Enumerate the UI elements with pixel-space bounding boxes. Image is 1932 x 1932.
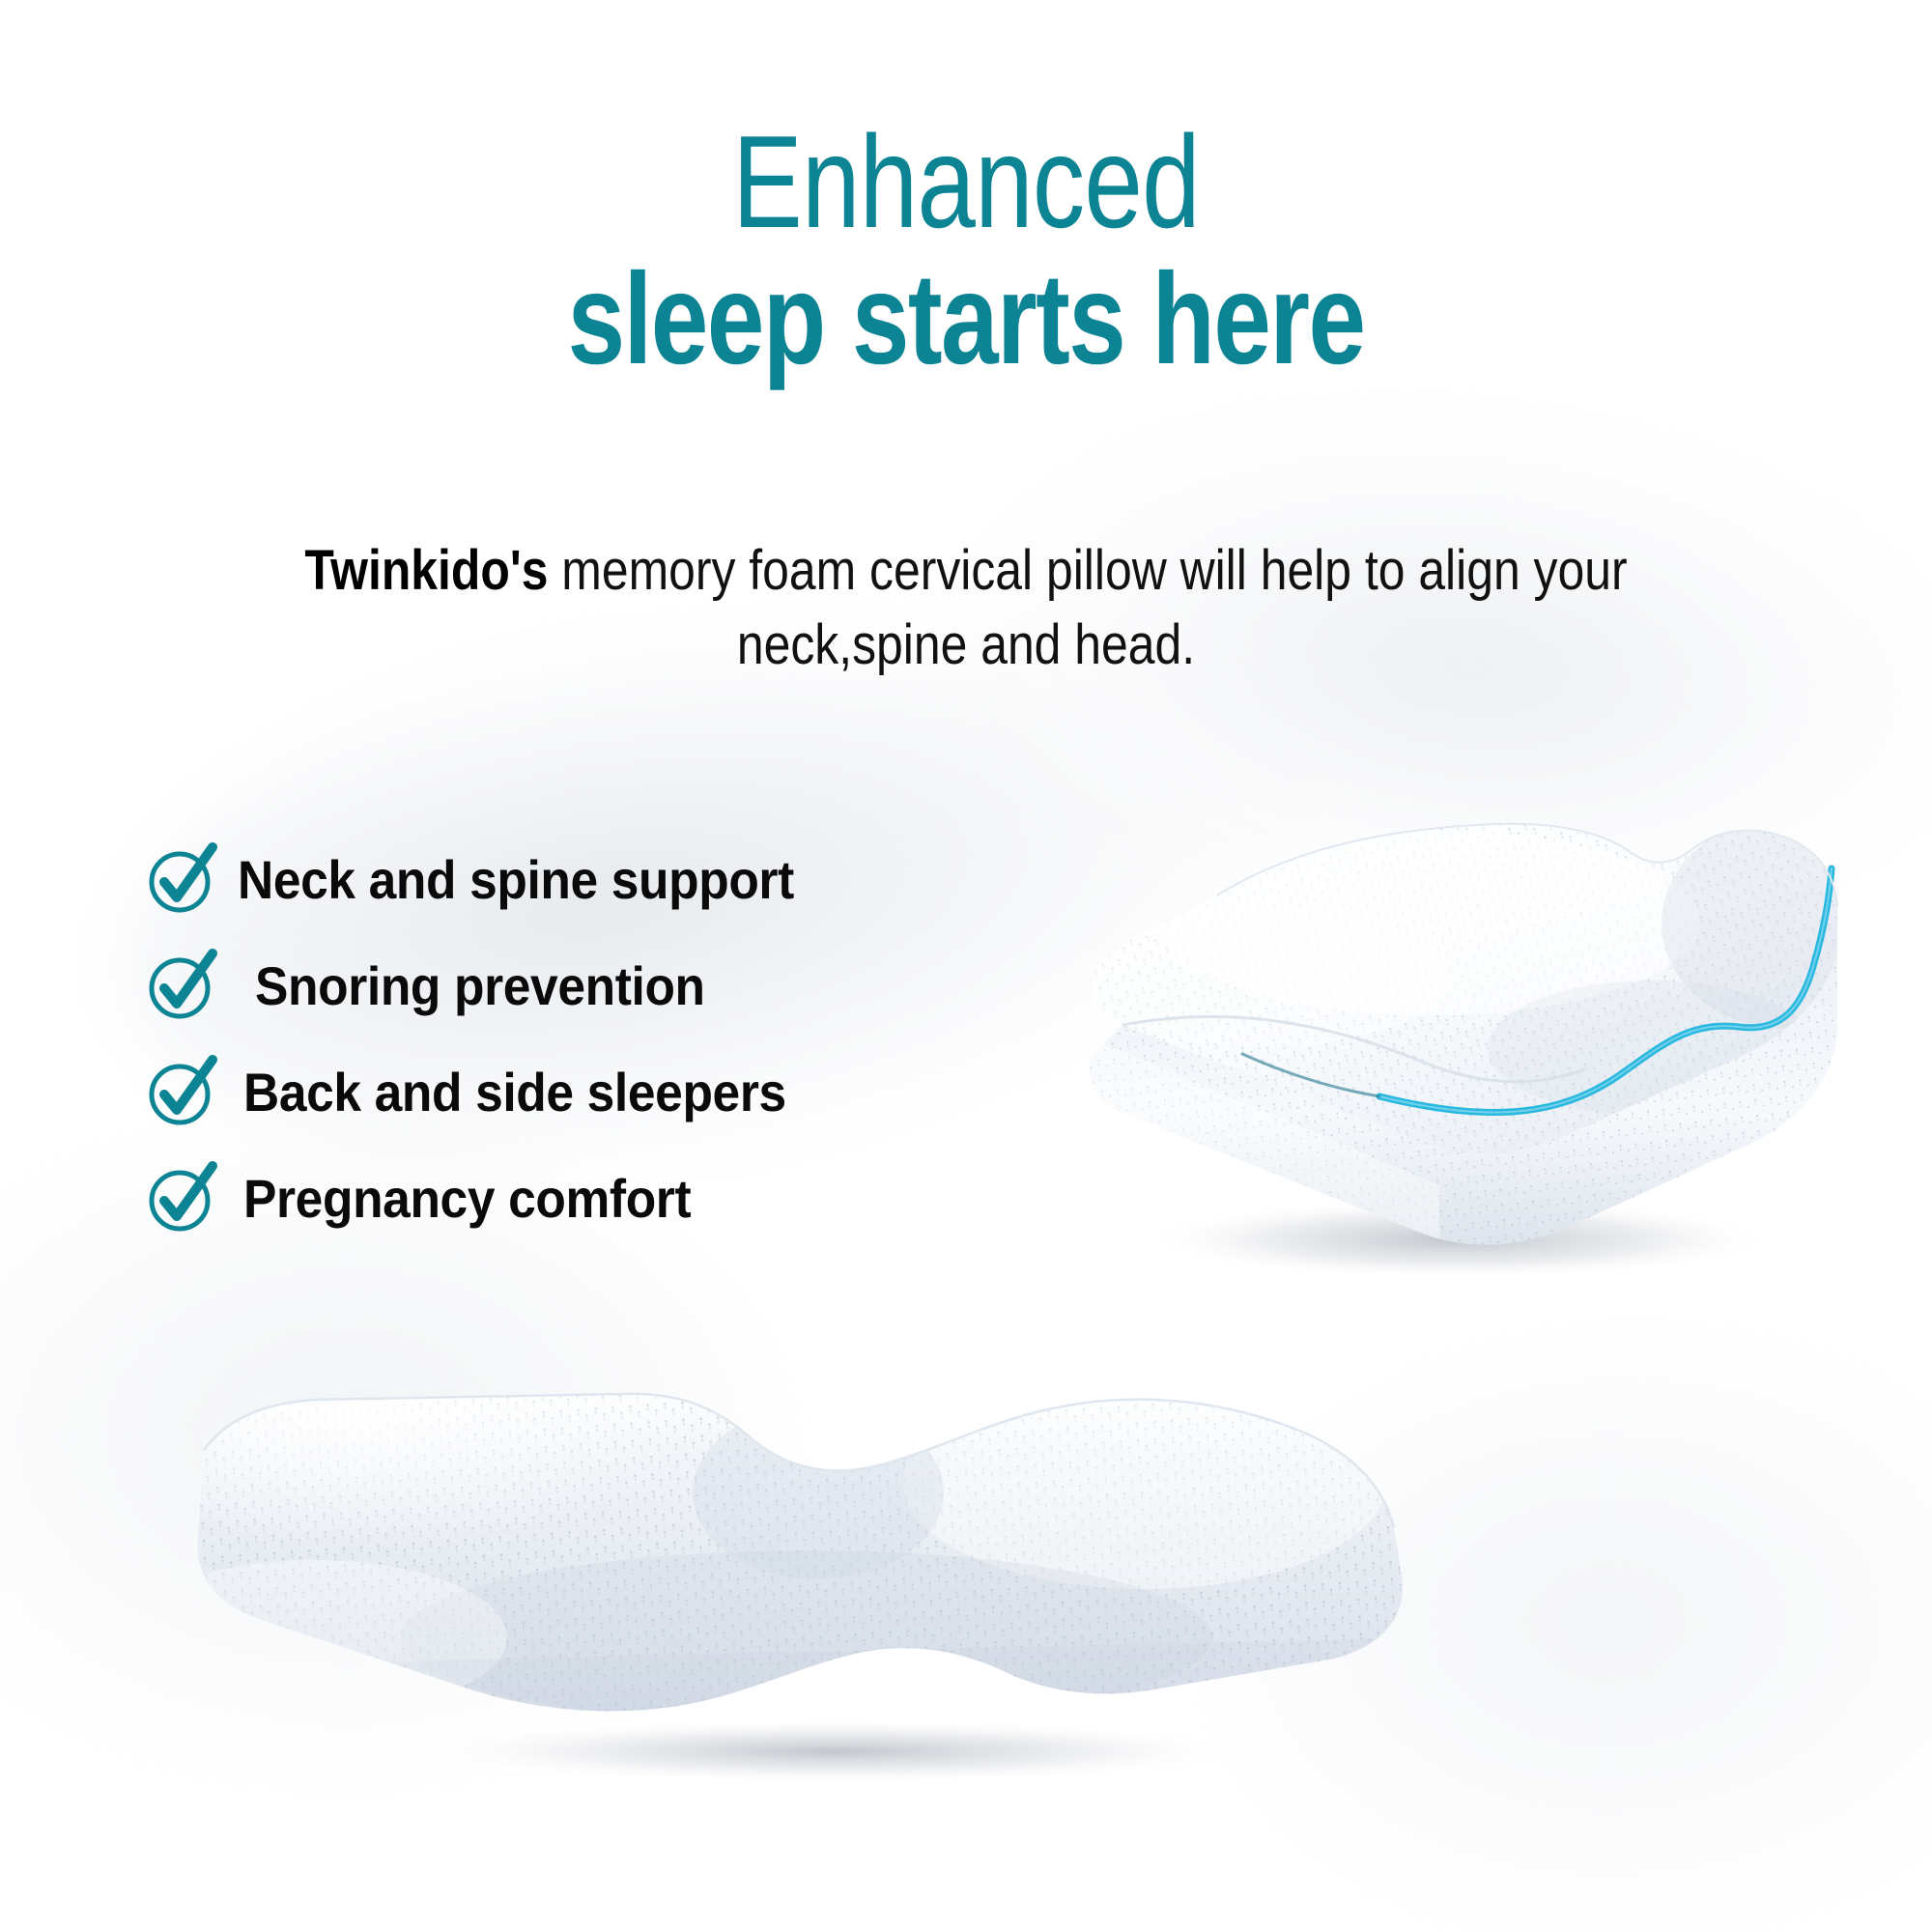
subtitle-rest: memory foam cervical pillow will help to…	[548, 539, 1627, 676]
background-gradient-lower-right	[1217, 1352, 1932, 1932]
list-item: Snoring prevention	[145, 932, 1043, 1038]
contoured-memory-foam-pillow-side-profile	[169, 1348, 1435, 1802]
brand-name: Twinkido's	[304, 539, 548, 602]
contoured-memory-foam-pillow-angled-view	[976, 807, 1884, 1290]
check-circle-icon	[145, 843, 216, 915]
headline: Enhanced sleep starts here	[0, 116, 1932, 384]
check-circle-icon	[145, 1162, 216, 1234]
feature-label: Pregnancy comfort	[243, 1167, 691, 1230]
headline-line-2: sleep starts here	[193, 255, 1739, 384]
subtitle: Twinkido's memory foam cervical pillow w…	[285, 534, 1647, 682]
headline-line-1: Enhanced	[193, 116, 1739, 247]
check-circle-icon	[145, 1056, 216, 1127]
check-circle-icon	[145, 950, 216, 1021]
feature-label: Back and side sleepers	[243, 1061, 786, 1123]
list-item: Back and side sleepers	[145, 1038, 1043, 1145]
feature-list: Neck and spine support Snoring preventio…	[145, 826, 1043, 1251]
list-item: Pregnancy comfort	[145, 1145, 1043, 1251]
product-marketing-banner: Enhanced sleep starts here Twinkido's me…	[0, 0, 1932, 1932]
feature-label: Snoring prevention	[255, 954, 705, 1017]
feature-label: Neck and spine support	[238, 848, 794, 911]
list-item: Neck and spine support	[145, 826, 1043, 932]
